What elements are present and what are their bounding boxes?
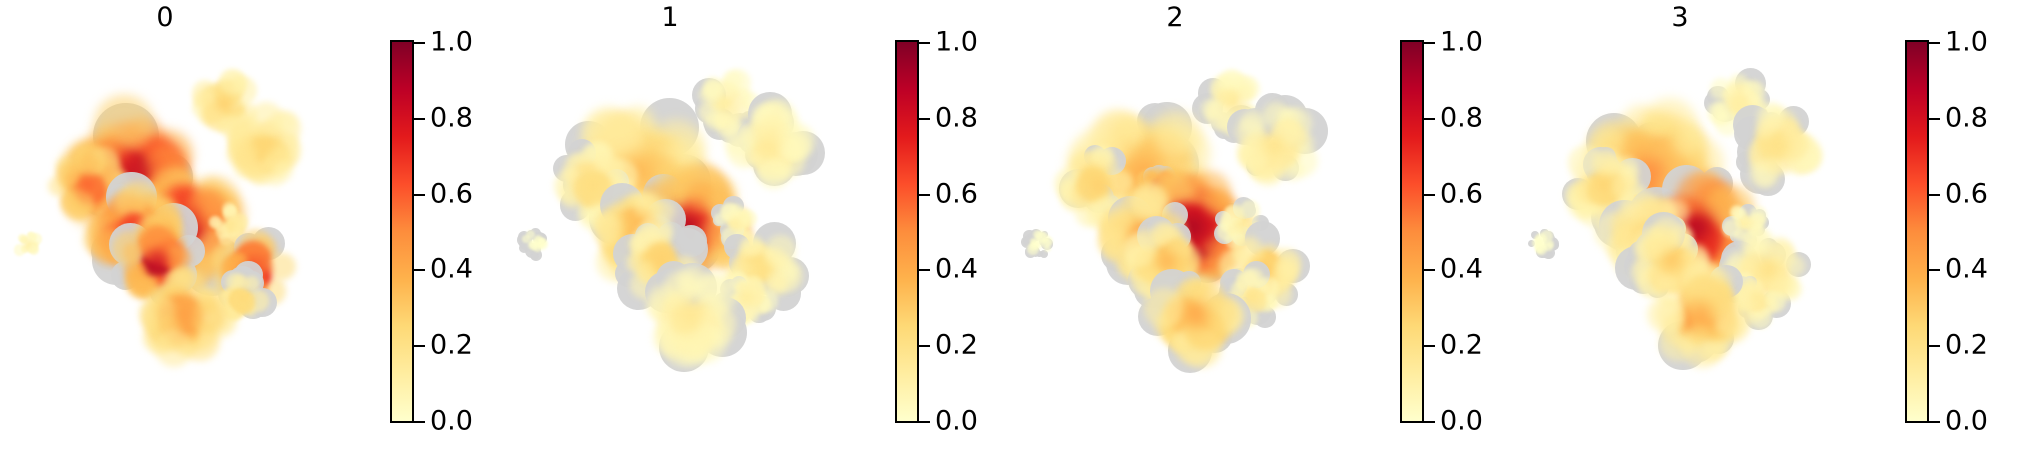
colorbar-ticklabel-2-2: 0.6: [1440, 180, 1483, 207]
colorbar-ticklabel-3-0: 1.0: [1945, 29, 1988, 56]
colorbar-tick-1-4: [919, 345, 930, 347]
cluster-far-left-dot-background-point: [519, 243, 529, 253]
cluster-bottom-blob-point: [155, 329, 193, 367]
colorbar-ticklabel-1-0: 1.0: [935, 29, 978, 56]
cluster-right-blob-point: [268, 253, 296, 281]
cluster-far-left-dot-core: [23, 239, 32, 248]
cluster-right-blob-skirt-point: [1256, 279, 1268, 291]
scatter-axes-0: [0, 30, 330, 430]
colorbar-1[interactable]: [895, 40, 919, 423]
colorbar-tick-2-5: [1424, 421, 1435, 423]
cluster-far-left-dot-core: [1538, 239, 1547, 248]
cluster-upper-right-small-point: [722, 71, 743, 92]
colorbar-tick-0-3: [414, 269, 425, 271]
cluster-right-blob-point: [1786, 256, 1806, 276]
cluster-main-lower-bottom-core: [143, 247, 171, 275]
cluster-main-lower-bottom-core: [1658, 247, 1686, 275]
cluster-main-upper-lobe-point: [1155, 119, 1194, 158]
cluster-right-filament-core: [223, 216, 238, 231]
colorbar-tick-0-2: [414, 194, 425, 196]
cluster-main-lower-left-point: [1133, 186, 1165, 218]
cluster-bottom-blob-core: [1685, 299, 1717, 331]
colorbar-tick-1-0: [919, 42, 930, 44]
colorbar-ticklabel-0-0: 1.0: [430, 29, 473, 56]
colorbar-tick-0-4: [414, 345, 425, 347]
colorbar-ticklabel-3-5: 0.0: [1945, 408, 1988, 435]
colorbar-ticklabel-3-3: 0.4: [1945, 256, 1988, 283]
scatter-axes-1: [505, 30, 835, 430]
cluster-right-filament-core: [728, 216, 743, 231]
cluster-far-left-dot-core: [528, 239, 537, 248]
colorbar-ticklabel-1-1: 0.8: [935, 104, 978, 131]
panel-title-1: 1: [505, 4, 835, 31]
colorbar-tick-0-5: [414, 421, 425, 423]
colorbar-tick-2-3: [1424, 269, 1435, 271]
figure-canvas: 01.00.80.60.40.20.011.00.80.60.40.20.021…: [0, 0, 2021, 455]
cluster-bottom-blob-point: [678, 266, 706, 294]
colorbar-tick-0-0: [414, 42, 425, 44]
colorbar-tick-0-1: [414, 118, 425, 120]
colorbar-ticklabel-1-5: 0.0: [935, 408, 978, 435]
cluster-main-lower-bottom-point: [1659, 274, 1677, 292]
colorbar-ticklabel-3-1: 0.8: [1945, 104, 1988, 131]
colorbar-ticklabel-1-4: 0.2: [935, 332, 978, 359]
panel-3: 31.00.80.60.40.20.0: [1515, 0, 2020, 455]
colorbar-tick-2-2: [1424, 194, 1435, 196]
cluster-upper-right-small-core: [213, 93, 235, 115]
colorbar-ticklabel-0-1: 0.8: [430, 104, 473, 131]
cluster-far-left-dot-point: [1044, 245, 1051, 252]
colorbar-3[interactable]: [1905, 40, 1929, 423]
cluster-bottom-blob-point: [1647, 296, 1684, 333]
colorbar-ticklabel-1-3: 0.4: [935, 256, 978, 283]
colorbar-tick-3-0: [1929, 42, 1940, 44]
colorbar-tick-3-3: [1929, 269, 1940, 271]
panel-0: 01.00.80.60.40.20.0: [0, 0, 505, 455]
scatter-axes-3: [1515, 30, 1845, 430]
colorbar-tick-1-3: [919, 269, 930, 271]
cluster-bottom-blob-point: [1144, 288, 1184, 328]
cluster-main-lower-bottom-point: [1123, 235, 1156, 268]
colorbar-ticklabel-0-4: 0.2: [430, 332, 473, 359]
cluster-upper-right-small-core: [718, 93, 740, 115]
panel-title-2: 2: [1010, 4, 1340, 31]
panel-title-3: 3: [1515, 4, 1845, 31]
panel-title-0: 0: [0, 4, 330, 31]
scatter-axes-2: [1010, 30, 1340, 430]
colorbar-tick-1-2: [919, 194, 930, 196]
colorbar-2[interactable]: [1400, 40, 1424, 423]
panel-2: 21.00.80.60.40.20.0: [1010, 0, 1515, 455]
cluster-upper-right-small-point: [221, 71, 246, 96]
cluster-main-lower-bottom-point: [123, 242, 143, 262]
colorbar-tick-3-1: [1929, 118, 1940, 120]
colorbar-tick-2-4: [1424, 345, 1435, 347]
colorbar-ticklabel-3-4: 0.2: [1945, 332, 1988, 359]
cluster-right-filament-point: [226, 206, 236, 216]
colorbar-tick-3-5: [1929, 421, 1940, 423]
cluster-bottom-blob-core: [675, 299, 707, 331]
colorbar-tick-2-1: [1424, 118, 1435, 120]
colorbar-tick-2-0: [1424, 42, 1435, 44]
colorbar-tick-1-1: [919, 118, 930, 120]
colorbar-ticklabel-0-3: 0.4: [430, 256, 473, 283]
cluster-main-upper-lobe-point: [1673, 129, 1701, 157]
colorbar-ticklabel-2-0: 1.0: [1440, 29, 1483, 56]
colorbar-ticklabel-2-5: 0.0: [1440, 408, 1483, 435]
colorbar-ticklabel-3-2: 0.6: [1945, 180, 1988, 207]
cluster-upper-right-mid-point: [273, 161, 293, 181]
colorbar-ticklabel-0-2: 0.6: [430, 180, 473, 207]
colorbar-ticklabel-2-3: 0.4: [1440, 256, 1483, 283]
colorbar-0[interactable]: [390, 40, 414, 423]
colorbar-tick-1-5: [919, 421, 930, 423]
panel-1: 11.00.80.60.40.20.0: [505, 0, 1010, 455]
cluster-bottom-blob-core: [170, 299, 202, 331]
colorbar-ticklabel-0-5: 0.0: [430, 408, 473, 435]
cluster-bottom-blob-core: [1180, 299, 1212, 331]
colorbar-ticklabel-1-2: 0.6: [935, 180, 978, 207]
cluster-far-left-dot-core: [1033, 239, 1042, 248]
colorbar-tick-3-4: [1929, 345, 1940, 347]
cluster-far-left-dot-point: [537, 239, 548, 250]
colorbar-tick-3-2: [1929, 194, 1940, 196]
colorbar-ticklabel-2-4: 0.2: [1440, 332, 1483, 359]
colorbar-ticklabel-2-1: 0.8: [1440, 104, 1483, 131]
cluster-right-blob-point: [1275, 261, 1299, 285]
cluster-upper-right-mid-point: [275, 113, 295, 133]
